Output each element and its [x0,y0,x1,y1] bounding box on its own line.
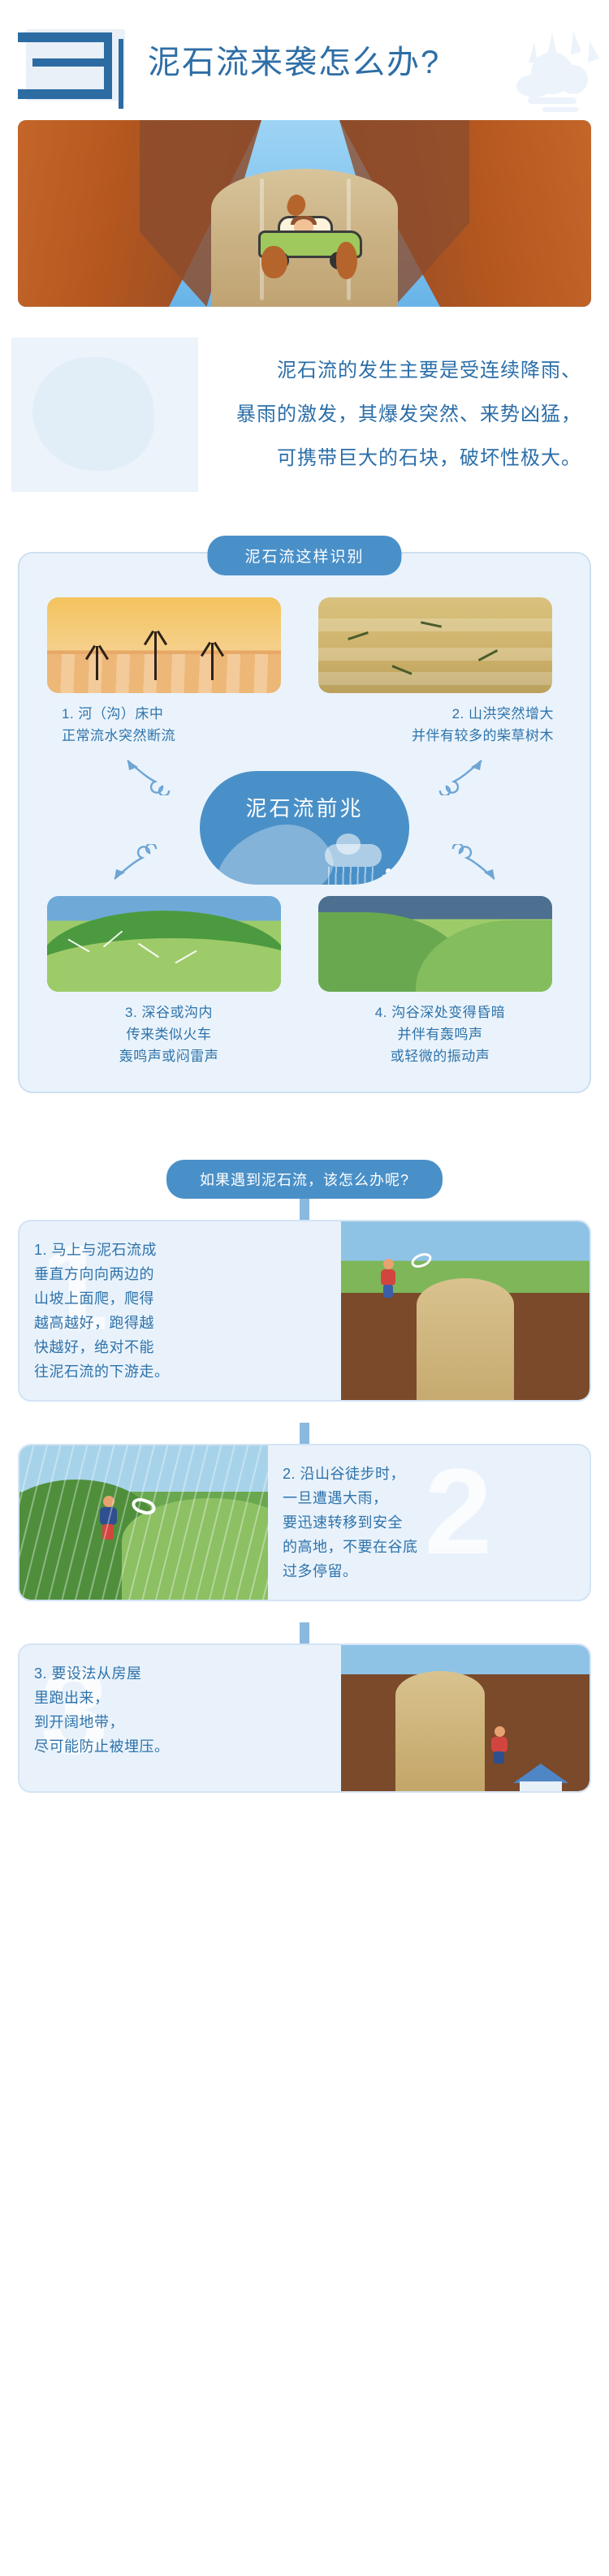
numeral-bar-mid [32,58,109,67]
flood-band [318,648,552,661]
text-line: 尽可能防止被埋压。 [34,1734,326,1759]
caption-line: 或轻微的振动声 [318,1045,562,1067]
numeral-stem-shadow [119,39,123,109]
person-body [491,1737,508,1752]
flee-house-image [341,1645,590,1791]
connector-bar [300,1199,309,1220]
identify-item-3-caption: 3. 深谷或沟内 传来类似火车 轰鸣声或闷雷声 [47,1002,291,1067]
header-splash-decor-icon [430,16,601,122]
text-line: 的高地，不要在谷底 [283,1535,575,1559]
hero-rock [261,246,287,278]
identify-item-2: 2. 山洪突然增大 并伴有较多的柴草树木 [318,597,562,747]
identify-item-2-caption: 2. 山洪突然增大 并伴有较多的柴草树木 [318,703,562,747]
caption-line: 3. 深谷或沟内 [47,1002,291,1023]
person-body [381,1269,395,1286]
action-item-2: 2 2. 沿山谷徒步时， 一旦遭遇大雨， 要迅速转移到安全 的高地，不要在谷底 … [18,1444,591,1601]
cracked-ground [47,654,281,693]
connector-bar [300,1622,309,1643]
intro-line-3: 可携带巨大的石块，破坏性极大。 [0,437,581,480]
person-legs [383,1285,393,1298]
caption-line: 并伴有轰鸣声 [318,1023,562,1045]
dry-riverbed-image [47,597,281,693]
dead-tree-icon [96,646,98,680]
numeral-bar-top [18,32,109,42]
running-person-icon [489,1726,512,1764]
precursor-badge: 泥石流前兆 [200,771,409,885]
mudflow-channel [417,1278,514,1400]
dead-tree-icon [211,643,214,680]
identify-panel: 泥石流这样识别 1. 河（沟）床中 正常流水突然断流 [18,552,591,1093]
identify-item-1: 1. 河（沟）床中 正常流水突然断流 [47,597,291,747]
valley-rumble-image [47,896,281,992]
caption-line: 传来类似火车 [47,1023,291,1045]
action-item-1-text: 1. 马上与泥石流成 垂直方向向两边的 山坡上面爬，爬得 越高越好，跑得越 快越… [19,1221,341,1400]
hero-illustration [18,120,591,307]
house-wall [520,1781,562,1791]
hiking-rain-image [19,1445,268,1600]
page-title: 泥石流来袭怎么办? [148,36,440,83]
rain-drops-icon [328,867,377,885]
identify-item-4-caption: 4. 沟谷深处变得昏暗 并伴有轰鸣声 或轻微的振动声 [318,1002,562,1067]
precursor-badge-area: 泥石流前兆 [19,758,590,896]
action-section: 如果遇到泥石流，该怎么办呢? 1 1. 马上与泥石流成 垂直方向向两边的 山坡上… [0,1160,609,1793]
person-icon [382,868,395,883]
section-numeral [18,23,125,101]
numeral-bar-bottom [18,89,109,99]
gully-scene [341,1221,590,1400]
identify-top-row: 1. 河（沟）床中 正常流水突然断流 2. 山洪突然增大 并伴有较多的柴草树木 [19,597,590,747]
action-item-2-text: 2. 沿山谷徒步时， 一旦遭遇大雨， 要迅速转移到安全 的高地，不要在谷底 过多… [268,1445,590,1600]
person-head [383,1259,394,1269]
text-line: 1. 马上与泥石流成 [34,1238,326,1262]
hero-rock [336,242,357,279]
caption-line: 1. 河（沟）床中 [62,703,291,725]
house-roof-icon [513,1764,568,1783]
text-line: 垂直方向向两边的 [34,1262,326,1286]
person-head [495,1726,505,1737]
intro-paragraph: 泥石流的发生主要是受连续降雨、 暴雨的激发，其爆发突然、来势凶猛， 可携带巨大的… [0,349,581,480]
flood-band [318,672,552,685]
text-line: 一旦遭遇大雨， [283,1486,575,1510]
caption-line: 轰鸣声或闷雷声 [47,1045,291,1067]
identify-item-4: 4. 沟谷深处变得昏暗 并伴有轰鸣声 或轻微的振动声 [318,896,562,1067]
curly-arrow-icon [450,844,499,881]
flood-debris-image [318,597,552,693]
text-line: 要迅速转移到安全 [283,1510,575,1535]
text-line: 快越好，绝对不能 [34,1335,326,1359]
page-header: 泥石流来袭怎么办? [0,0,609,114]
lasso-icon [409,1251,434,1271]
person-legs [494,1751,504,1764]
identify-item-1-caption: 1. 河（沟）床中 正常流水突然断流 [47,703,291,747]
mudflow-wave-icon [204,814,341,885]
identify-section-title: 泥石流这样识别 [207,536,401,575]
text-line: 往泥石流的下游走。 [34,1359,326,1384]
identify-item-3: 3. 深谷或沟内 传来类似火车 轰鸣声或闷雷声 [47,896,291,1067]
intro-line-1: 泥石流的发生主要是受连续降雨、 [0,349,581,393]
caption-line: 4. 沟谷深处变得昏暗 [318,1002,562,1023]
action-item-3: 3 3. 要设法从房屋 里跑出来， 到开阔地带， 尽可能防止被埋压。 [18,1643,591,1793]
action-section-title: 如果遇到泥石流，该怎么办呢? [166,1160,443,1199]
rainy-valley-scene [19,1445,268,1600]
text-line: 过多停留。 [283,1559,575,1583]
debris-twig-icon [348,631,369,640]
dark-valley-image [318,896,552,992]
intro-section: 泥石流的发生主要是受连续降雨、 暴雨的激发，其爆发突然、来势凶猛， 可携带巨大的… [0,349,609,503]
house-escape-scene [341,1645,590,1791]
connector-bar [300,1423,309,1444]
text-line: 越高越好，跑得越 [34,1311,326,1335]
text-line: 山坡上面爬，爬得 [34,1286,326,1311]
intro-line-2: 暴雨的激发，其爆发突然、来势凶猛， [0,393,581,437]
dead-tree-icon [154,631,157,680]
curly-arrow-icon [110,844,159,881]
precursor-badge-label: 泥石流前兆 [245,792,363,822]
curly-arrow-icon [123,758,172,795]
mudflow-channel [395,1671,485,1791]
text-line: 3. 要设法从房屋 [34,1661,326,1686]
caption-line: 2. 山洪突然增大 [318,703,554,725]
action-item-1: 1 1. 马上与泥石流成 垂直方向向两边的 山坡上面爬，爬得 越高越好，跑得越 … [18,1220,591,1402]
action-item-3-text: 3. 要设法从房屋 里跑出来， 到开阔地带， 尽可能防止被埋压。 [19,1645,341,1791]
curly-arrow-icon [437,758,486,795]
climb-slope-image [341,1221,590,1400]
text-line: 到开阔地带， [34,1710,326,1734]
running-person-icon [378,1259,400,1298]
identify-bottom-row: 3. 深谷或沟内 传来类似火车 轰鸣声或闷雷声 4. 沟谷深处变得昏暗 并伴有轰… [19,896,590,1067]
text-line: 2. 沿山谷徒步时， [283,1462,575,1486]
caption-line: 正常流水突然断流 [62,725,291,747]
caption-line: 并伴有较多的柴草树木 [318,725,554,747]
rain-cloud-icon [325,844,382,867]
rain-overlay [19,1445,268,1600]
text-line: 里跑出来， [34,1686,326,1710]
numeral-stem [104,32,112,99]
